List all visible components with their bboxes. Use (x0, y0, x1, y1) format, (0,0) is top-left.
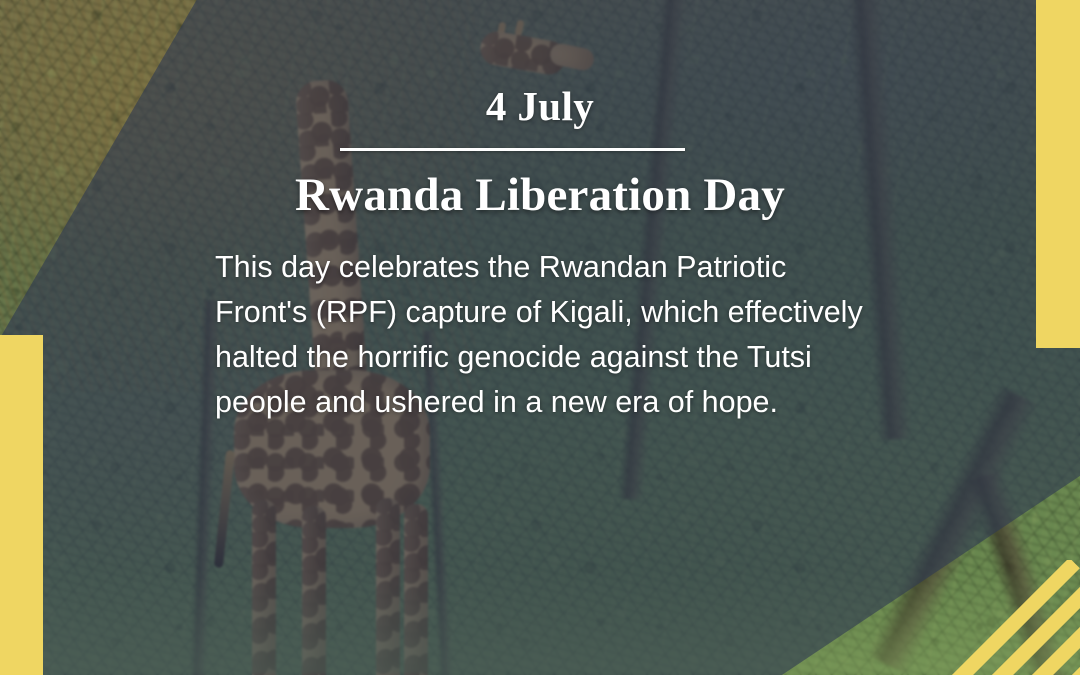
headline-title: Rwanda Liberation Day (0, 168, 1080, 222)
text-content: 4 July Rwanda Liberation Day This day ce… (0, 0, 1080, 675)
title-divider-rule (340, 148, 685, 151)
date-label: 4 July (0, 82, 1080, 130)
body-paragraph: This day celebrates the Rwandan Patrioti… (215, 245, 863, 425)
poster-canvas: 4 July Rwanda Liberation Day This day ce… (0, 0, 1080, 675)
